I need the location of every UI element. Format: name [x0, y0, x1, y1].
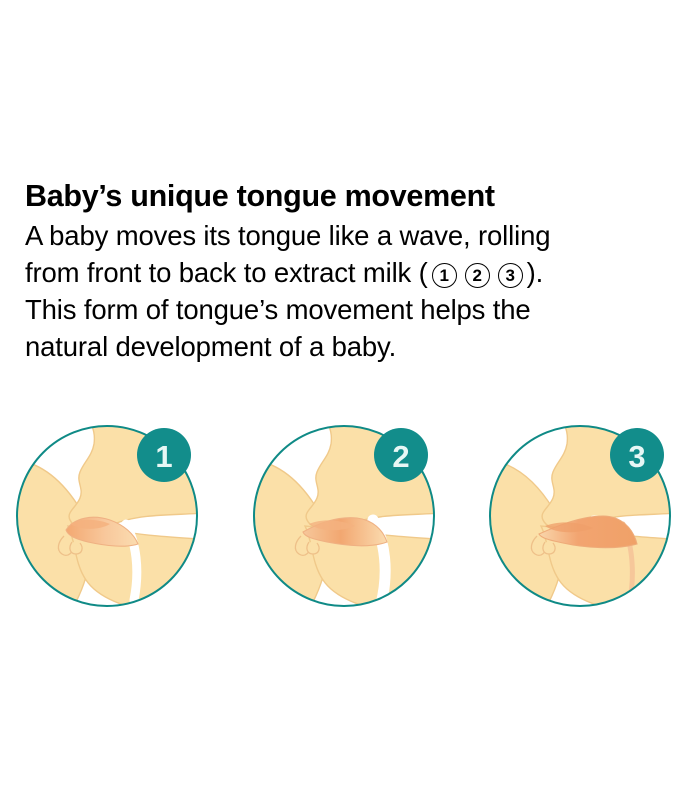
inline-marker-1: 1	[432, 263, 457, 288]
step-badge-3: 3	[610, 428, 664, 482]
lip-fold-inner	[70, 542, 82, 554]
step-badge-3-number: 3	[628, 439, 645, 474]
page-title: Baby’s unique tongue movement	[25, 178, 675, 214]
illustration-panel-2: 2	[251, 420, 441, 612]
article-text-block: Baby’s unique tongue movement A baby mov…	[25, 178, 675, 365]
body-line-2: from front to back to extract milk (123)…	[25, 254, 675, 291]
article-body: A baby moves its tongue like a wave, rol…	[25, 217, 675, 365]
body-line-2-prefix: from front to back to extract milk (	[25, 257, 428, 288]
step-badge-2: 2	[374, 428, 428, 482]
step-badge-1: 1	[137, 428, 191, 482]
body-line-2-suffix: ).	[527, 257, 544, 288]
body-line-4: natural development of a baby.	[25, 328, 675, 365]
body-line-3: This form of tongue’s movement helps the	[25, 291, 675, 328]
lip-fold-inner	[307, 542, 319, 554]
body-line-1: A baby moves its tongue like a wave, rol…	[25, 217, 675, 254]
illustration-panel-1: 1	[14, 420, 204, 612]
inline-marker-3: 3	[498, 263, 523, 288]
inline-marker-2: 2	[465, 263, 490, 288]
step-badge-1-number: 1	[155, 439, 172, 474]
lip-fold-inner	[543, 542, 555, 554]
step-badge-2-number: 2	[392, 439, 409, 474]
illustration-row: 1	[0, 420, 683, 620]
infographic-root: Baby’s unique tongue movement A baby mov…	[0, 0, 683, 800]
illustration-panel-3: 3	[487, 420, 677, 612]
